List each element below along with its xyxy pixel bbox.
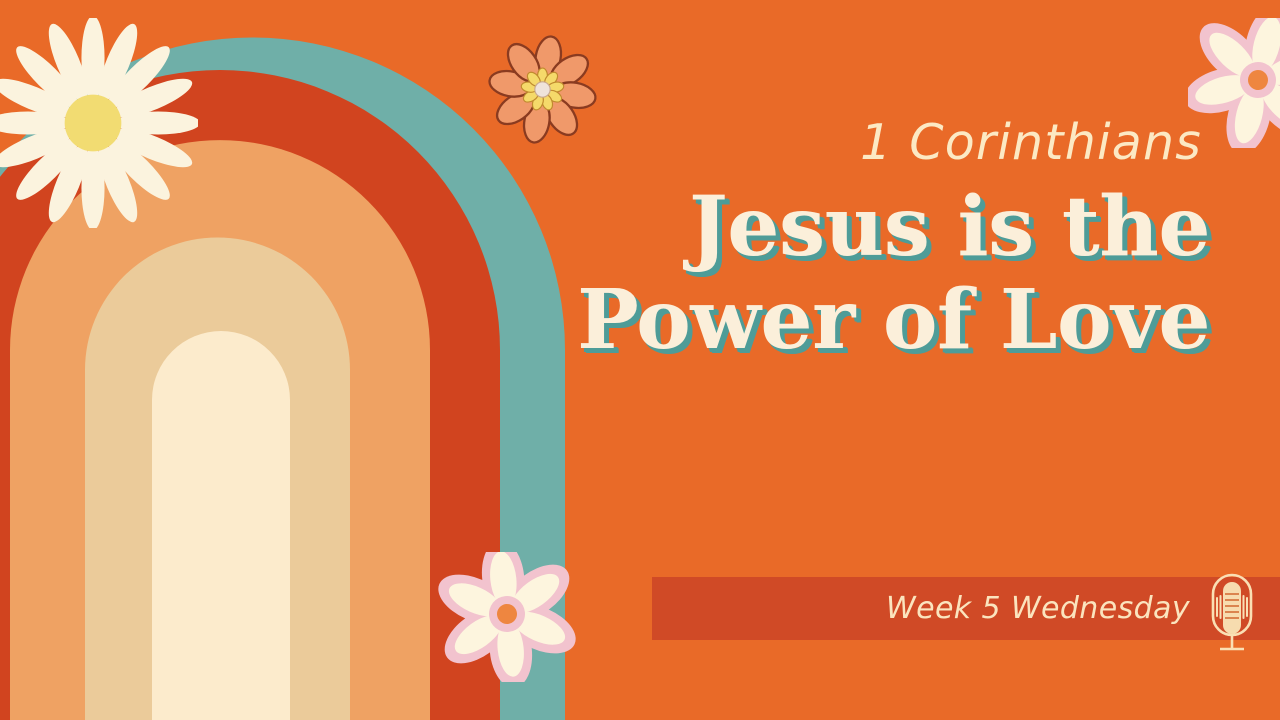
microphone-icon	[1206, 572, 1258, 658]
page-title: Jesus is the Power of Love	[520, 181, 1210, 366]
title-line-1: Jesus is the	[520, 181, 1210, 274]
daisy-flower	[0, 18, 198, 228]
title-block: 1 Corinthians Jesus is the Power of Love	[520, 118, 1210, 366]
title-line-2: Power of Love	[520, 274, 1210, 367]
pink-flower-bottom-center	[437, 552, 577, 682]
week-banner-label: Week 5 Wednesday	[886, 591, 1190, 626]
orange-flower-center	[535, 82, 550, 97]
rainbow-band-cream	[152, 331, 290, 720]
week-banner: Week 5 Wednesday	[652, 577, 1280, 640]
daisy-center	[65, 95, 122, 152]
scripture-reference: 1 Corinthians	[520, 118, 1202, 167]
slide-canvas: 1 Corinthians Jesus is the Power of Love…	[0, 0, 1280, 720]
